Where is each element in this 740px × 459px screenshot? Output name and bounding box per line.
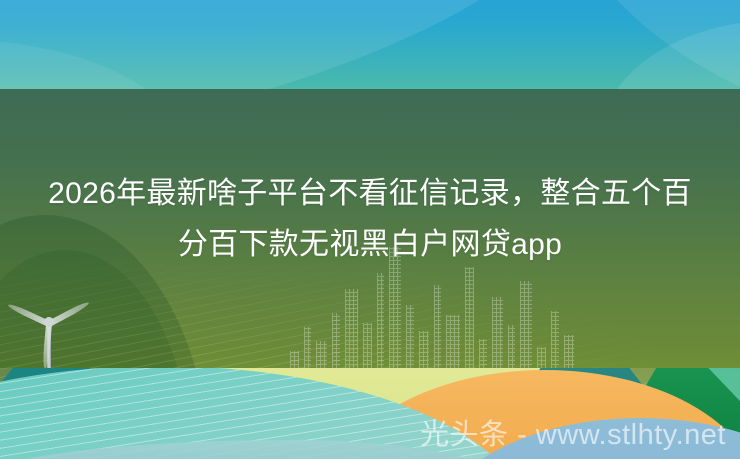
page-title: 2026年最新啥子平台不看征信记录，整合五个百分百下款无视黑白户网贷app bbox=[34, 168, 706, 270]
headline-container: 2026年最新啥子平台不看征信记录，整合五个百分百下款无视黑白户网贷app bbox=[0, 0, 740, 459]
banner-image: 2026年最新啥子平台不看征信记录，整合五个百分百下款无视黑白户网贷app 光头… bbox=[0, 0, 740, 459]
